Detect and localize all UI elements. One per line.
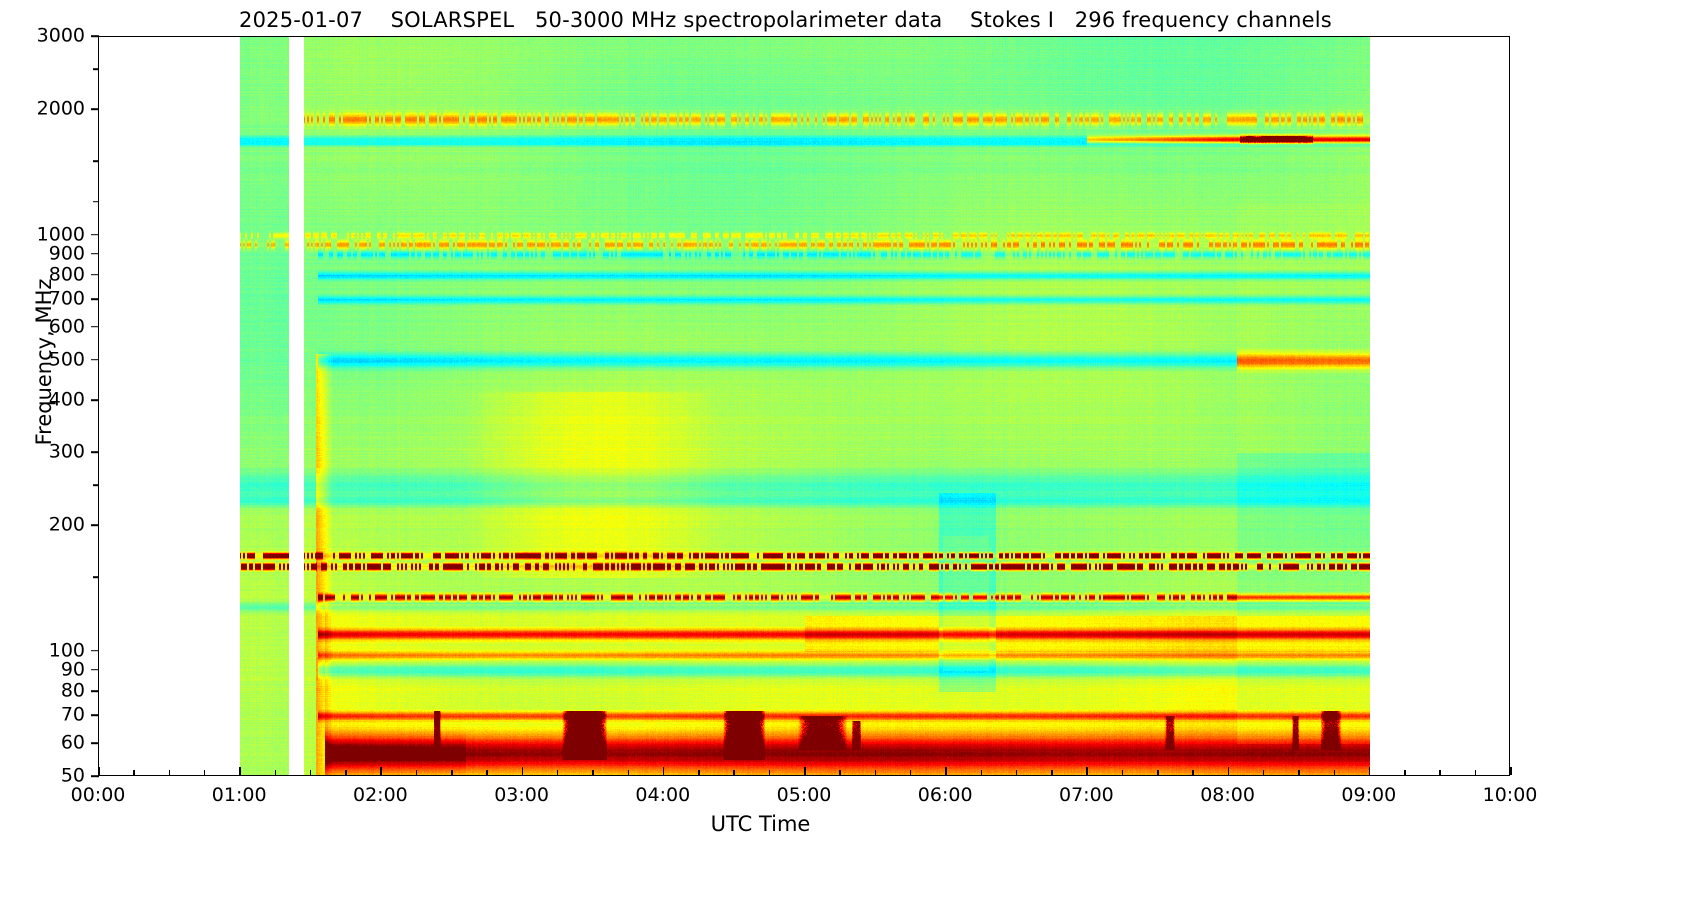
x-minor-tick-mark	[1475, 770, 1477, 776]
x-minor-tick-mark	[628, 770, 630, 776]
x-minor-tick-mark	[416, 770, 418, 776]
x-tick-label: 07:00	[1059, 786, 1114, 805]
x-minor-tick-mark	[839, 770, 841, 776]
x-tick-mark	[1086, 767, 1088, 775]
x-tick-mark	[804, 767, 806, 775]
x-tick-label: 08:00	[1200, 786, 1255, 805]
x-minor-tick-mark	[981, 770, 983, 776]
x-tick-label: 01:00	[212, 786, 267, 805]
x-tick-label: 03:00	[494, 786, 549, 805]
x-tick-mark	[1228, 767, 1230, 775]
x-minor-tick-mark	[133, 770, 135, 776]
x-minor-tick-mark	[1334, 770, 1336, 776]
x-tick-label: 06:00	[918, 786, 973, 805]
x-minor-tick-mark	[451, 770, 453, 776]
x-tick-mark	[945, 767, 947, 775]
x-minor-tick-mark	[275, 770, 277, 776]
x-tick-label: 02:00	[353, 786, 408, 805]
x-tick-mark	[663, 767, 665, 775]
x-minor-tick-mark	[486, 770, 488, 776]
x-minor-tick-mark	[1439, 770, 1441, 776]
x-minor-tick-mark	[910, 770, 912, 776]
x-tick-label: 00:00	[71, 786, 126, 805]
x-tick-mark	[1510, 767, 1512, 775]
x-tick-mark	[522, 767, 524, 775]
x-tick-mark	[1369, 767, 1371, 775]
x-minor-tick-mark	[769, 770, 771, 776]
x-minor-tick-mark	[1051, 770, 1053, 776]
x-minor-tick-mark	[1192, 770, 1194, 776]
x-tick-label: 05:00	[777, 786, 832, 805]
x-tick-label: 10:00	[1483, 786, 1538, 805]
spectrogram-figure: 2025-01-07 SOLARSPEL 50-3000 MHz spectro…	[0, 0, 1687, 906]
x-axis-label: UTC Time	[0, 812, 1604, 836]
x-axis: 00:0001:0002:0003:0004:0005:0006:0007:00…	[0, 0, 1687, 906]
x-tick-mark	[239, 767, 241, 775]
x-tick-mark	[98, 767, 100, 775]
x-minor-tick-mark	[592, 770, 594, 776]
x-tick-label: 04:00	[635, 786, 690, 805]
x-minor-tick-mark	[1122, 770, 1124, 776]
x-minor-tick-mark	[875, 770, 877, 776]
x-minor-tick-mark	[345, 770, 347, 776]
x-minor-tick-mark	[204, 770, 206, 776]
x-minor-tick-mark	[1404, 770, 1406, 776]
x-minor-tick-mark	[733, 770, 735, 776]
x-tick-mark	[380, 767, 382, 775]
x-minor-tick-mark	[169, 770, 171, 776]
x-minor-tick-mark	[1298, 770, 1300, 776]
x-minor-tick-mark	[1263, 770, 1265, 776]
x-minor-tick-mark	[698, 770, 700, 776]
x-tick-label: 09:00	[1341, 786, 1396, 805]
x-minor-tick-mark	[557, 770, 559, 776]
x-minor-tick-mark	[1157, 770, 1159, 776]
x-minor-tick-mark	[310, 770, 312, 776]
x-minor-tick-mark	[1016, 770, 1018, 776]
